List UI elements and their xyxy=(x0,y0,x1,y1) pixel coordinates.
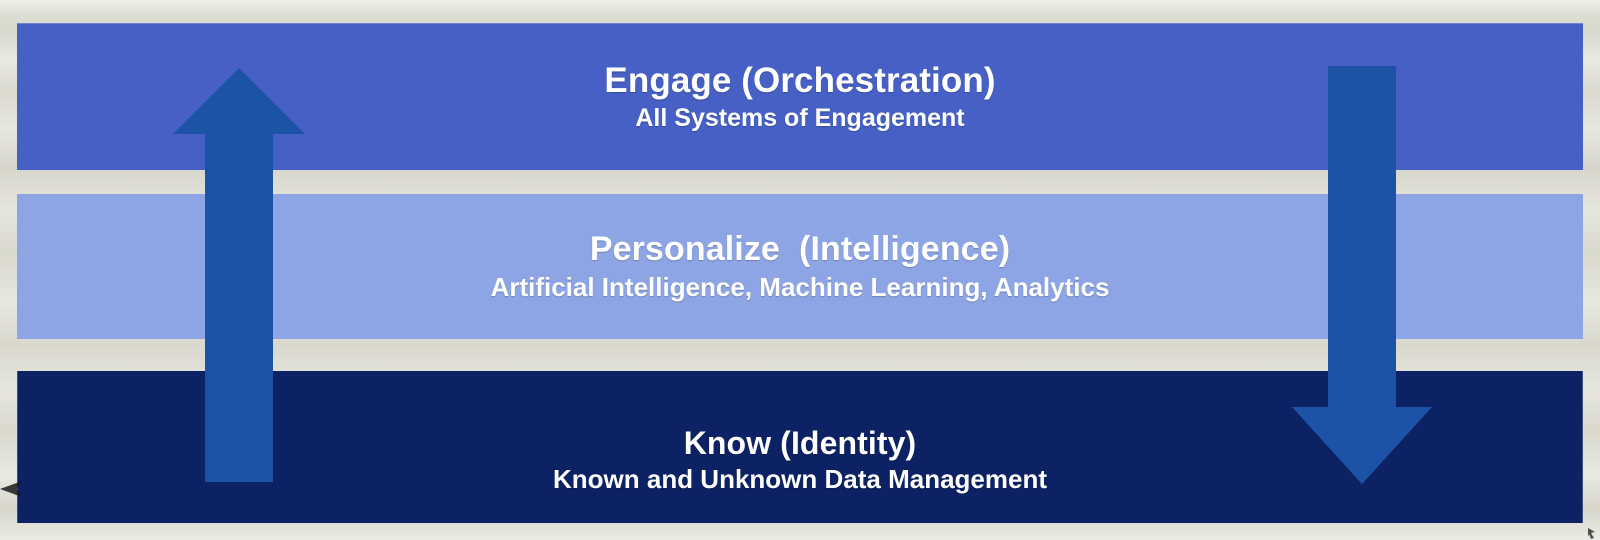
layer-title-personalize: Personalize (Intelligence) xyxy=(590,231,1010,268)
layer-subtitle-know: Known and Unknown Data Management xyxy=(553,465,1047,494)
layer-band-know: Know (Identity) Known and Unknown Data M… xyxy=(17,371,1583,523)
corner-mark-icon xyxy=(1588,528,1597,539)
layer-subtitle-personalize: Artificial Intelligence, Machine Learnin… xyxy=(491,273,1110,302)
layer-band-personalize: Personalize (Intelligence) Artificial In… xyxy=(17,194,1583,339)
left-pointer-icon xyxy=(0,478,26,500)
layer-band-know-text: Know (Identity) Known and Unknown Data M… xyxy=(553,426,1047,495)
layer-subtitle-engage: All Systems of Engagement xyxy=(635,104,964,132)
layer-title-know: Know (Identity) xyxy=(684,426,917,461)
slide-canvas: Engage (Orchestration) All Systems of En… xyxy=(0,0,1600,540)
layer-title-engage: Engage (Orchestration) xyxy=(604,62,995,100)
layer-band-engage: Engage (Orchestration) All Systems of En… xyxy=(17,23,1583,170)
